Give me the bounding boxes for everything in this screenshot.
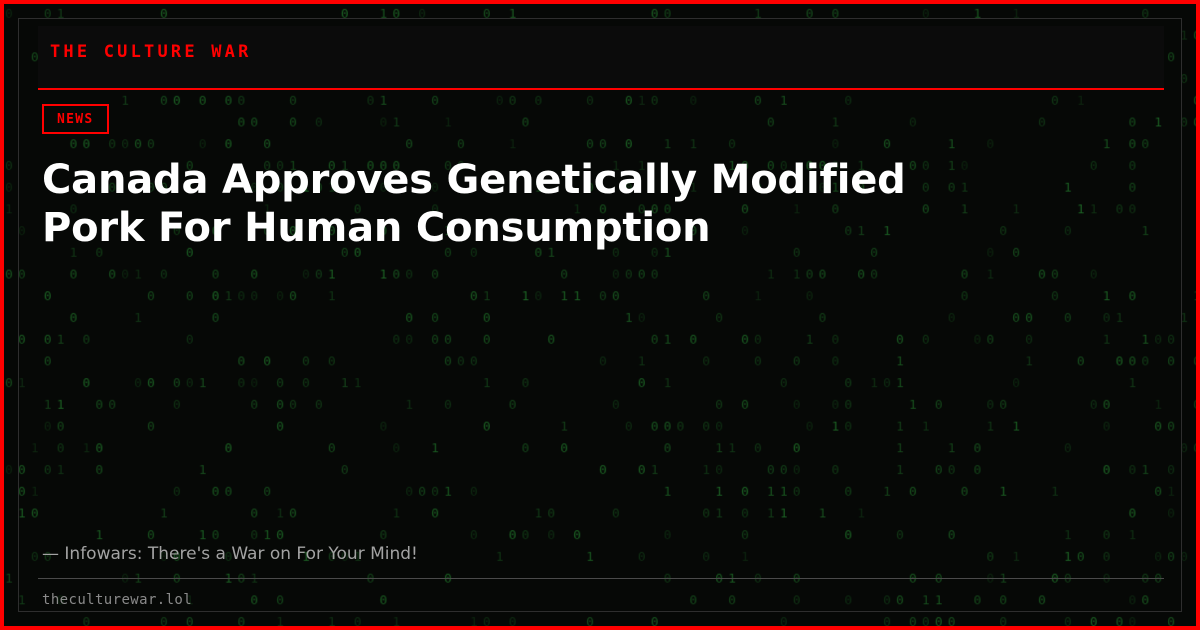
badge-row: NEWS xyxy=(38,104,1164,134)
site-url-text: theculturewar.lol xyxy=(38,592,1164,608)
content-spacer xyxy=(38,252,1164,544)
attribution-text: — Infowars: There's a War on For Your Mi… xyxy=(38,544,1164,564)
category-badge-news: NEWS xyxy=(42,104,109,134)
news-card: THE CULTURE WAR NEWS Canada Approves Gen… xyxy=(0,0,1200,630)
footer-divider xyxy=(38,578,1164,579)
card-header: THE CULTURE WAR xyxy=(38,26,1164,90)
headline-text: Canada Approves Genetically Modified Por… xyxy=(38,156,938,252)
card-content: THE CULTURE WAR NEWS Canada Approves Gen… xyxy=(38,26,1164,608)
brand-title: THE CULTURE WAR xyxy=(50,42,1164,62)
